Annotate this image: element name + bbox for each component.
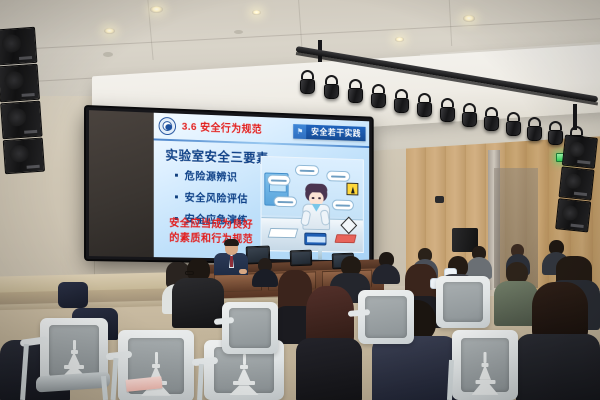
open-book (268, 228, 299, 238)
stage-spotlight (506, 112, 521, 136)
bullet-label: 安全风险评估 (185, 190, 248, 206)
backpack (58, 282, 88, 308)
list-item: 安全风险评估 (175, 189, 248, 206)
water-bottle (318, 248, 322, 260)
chair-mesh-panel (365, 296, 406, 338)
slide-section-number: 3.6 (182, 121, 197, 133)
conference-chair[interactable] (358, 290, 414, 344)
illustration-person (302, 183, 330, 230)
slide-subheading: 实验室安全三要素 (165, 145, 268, 167)
person-bangs (305, 183, 327, 192)
person-torso (372, 264, 400, 284)
audience-member (516, 282, 600, 400)
speech-bubble (295, 165, 319, 176)
eiffel-tower-motif (472, 352, 499, 396)
presenter-tie (230, 256, 233, 267)
stage-spotlight (548, 121, 563, 145)
camera-icon (435, 196, 444, 203)
conference-chair[interactable] (452, 330, 518, 400)
stage-spotlight (417, 93, 432, 117)
warning-triangle-sign (347, 183, 359, 196)
bookmark-icon: ⚑ (294, 124, 307, 139)
person-torso (516, 334, 600, 400)
list-item: 危险源辨识 (175, 168, 248, 185)
person-eye (312, 197, 315, 199)
stage-spotlight (440, 98, 455, 122)
chair-mesh-panel (229, 308, 270, 349)
bullet-dot-icon (175, 195, 178, 198)
slide-title-text: 安全行为规范 (200, 121, 262, 135)
speech-bubble (267, 175, 290, 186)
person-hair (532, 282, 588, 342)
red-folder (335, 234, 357, 243)
conference-chair[interactable] (222, 302, 278, 354)
eiffel-tower-motif (229, 354, 259, 396)
stage-spotlight (527, 117, 542, 141)
speech-bubble (326, 171, 350, 182)
speech-bubble (274, 196, 297, 207)
audience-member (296, 286, 362, 400)
screen-dark-panel (89, 110, 154, 257)
slide-title: 3.6 安全行为规范 (182, 119, 262, 137)
speech-bubble (332, 200, 354, 211)
stage-spotlight (484, 107, 499, 131)
university-seal-icon (159, 117, 176, 135)
presenter-hand (239, 269, 247, 274)
person-eye (318, 197, 321, 199)
presentation-slide: 3.6 安全行为规范 ⚑ 安全若干实践 实验室安全三要素 危险源辨识 安全风险评… (154, 113, 369, 261)
conference-hall-photo: 3.6 安全行为规范 ⚑ 安全若干实践 实验室安全三要素 危险源辨识 安全风险评… (0, 0, 600, 400)
audience-member (172, 258, 224, 326)
presenter-monitor (290, 250, 313, 267)
conference-chair[interactable] (436, 276, 490, 328)
eyeglasses-icon (185, 271, 194, 275)
chair-mesh-panel (443, 282, 483, 323)
slide-section-badge: ⚑ 安全若干实践 (294, 124, 366, 141)
slide-header: 3.6 安全行为规范 ⚑ 安全若干实践 (154, 113, 369, 146)
lab-safety-illustration (261, 156, 364, 253)
audience-member (372, 252, 400, 282)
eiffel-tower-motif (141, 352, 171, 398)
tablet-device (304, 233, 326, 246)
stage-spotlight (394, 89, 409, 113)
bullet-label: 危险源辨识 (185, 168, 238, 184)
stage-spotlight (462, 103, 477, 127)
highlight-line-1: 安全应当成为良好 (169, 216, 253, 233)
stage-spotlight (371, 84, 386, 108)
bullet-dot-icon (175, 174, 178, 177)
slide-badge-label: 安全若干实践 (307, 124, 366, 141)
person-torso (372, 336, 458, 400)
stage-spotlight (348, 79, 363, 103)
stage-spotlight (324, 75, 339, 99)
presenter-hair (224, 239, 239, 246)
person-torso (296, 338, 362, 400)
stage-spotlight (300, 70, 315, 94)
